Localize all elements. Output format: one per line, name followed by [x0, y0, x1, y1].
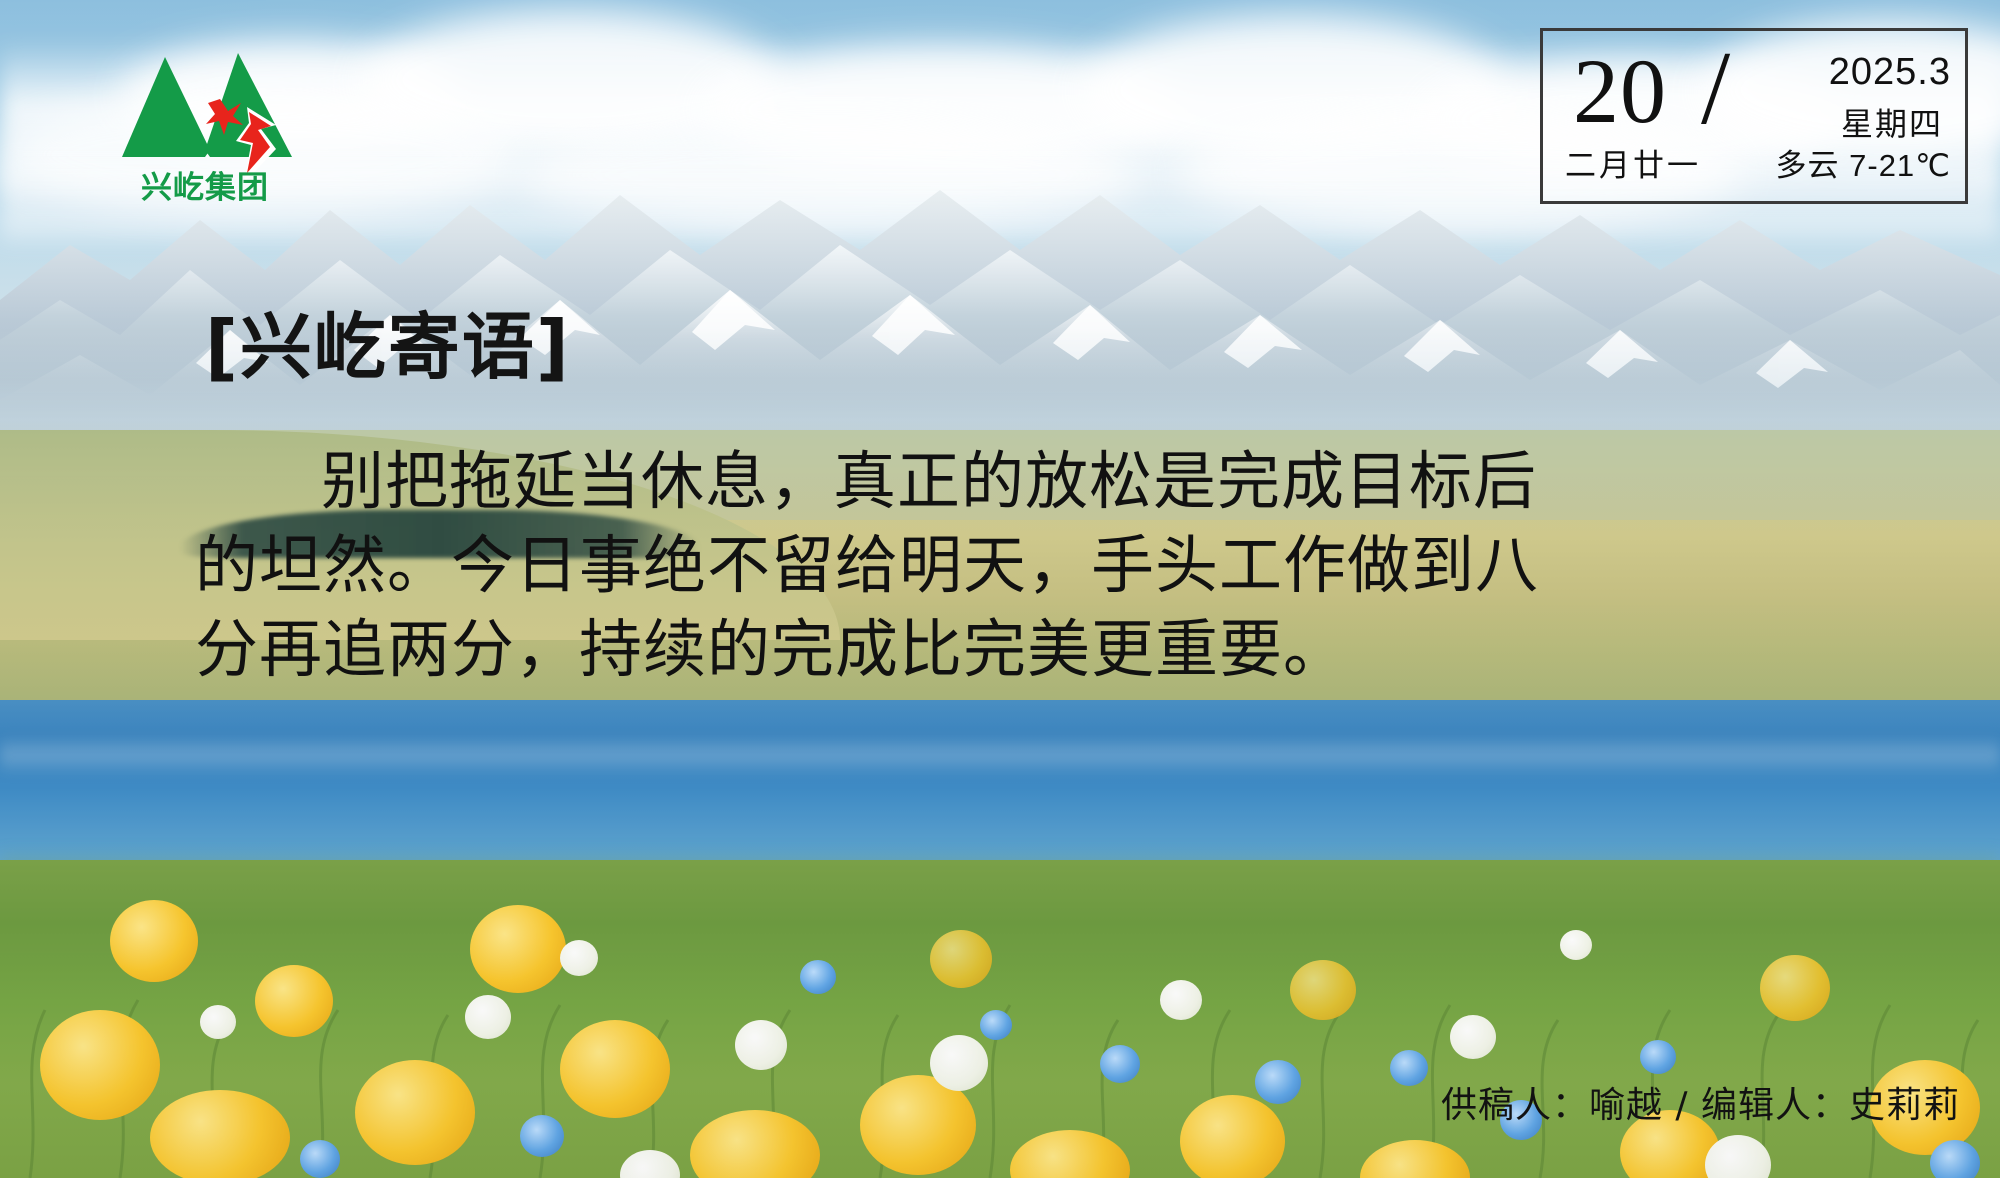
- logo-left-peak: [122, 57, 210, 157]
- date-weekday: 星期四: [1841, 99, 1943, 145]
- credits-footer: 供稿人：喻越 / 编辑人：史莉莉: [1441, 1076, 1960, 1128]
- date-card-top: 20 / 2025.3 星期四: [1543, 37, 1965, 145]
- date-card: 20 / 2025.3 星期四 二月廿一 多云 7-21℃: [1540, 28, 1968, 204]
- logo-wordmark: 兴屹集团: [141, 170, 269, 205]
- weather-info: 多云 7-21℃: [1776, 140, 1951, 185]
- message-line-3: 分再追两分，持续的完成比完美更重要。: [195, 608, 1755, 692]
- date-lunar: 二月廿一: [1565, 140, 1701, 185]
- date-year-month: 2025.3: [1829, 51, 1951, 94]
- message-line-1: 别把拖延当休息，真正的放松是完成目标后: [195, 440, 1755, 524]
- poster-canvas: 兴屹集团 20 / 2025.3 星期四 二月廿一 多云 7-21℃ [兴屹寄语…: [0, 0, 2000, 1178]
- lake-reflection: [0, 735, 2000, 775]
- date-day: 20: [1573, 45, 1667, 137]
- company-logo[interactable]: 兴屹集团: [110, 45, 300, 205]
- message-line-2: 的坦然。今日事绝不留给明天，手头工作做到八: [195, 524, 1755, 608]
- date-slash-icon: /: [1701, 35, 1730, 140]
- message-body: 别把拖延当休息，真正的放松是完成目标后 的坦然。今日事绝不留给明天，手头工作做到…: [195, 440, 1755, 691]
- credits-text: 供稿人：喻越 / 编辑人：史莉莉: [1441, 1085, 1960, 1126]
- page-title: [兴屹寄语]: [205, 288, 571, 393]
